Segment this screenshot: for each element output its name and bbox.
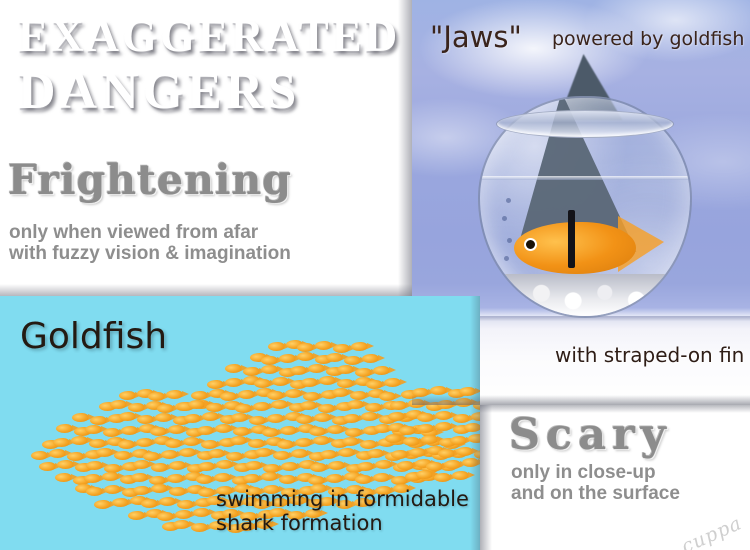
bubble-icon [506, 198, 511, 203]
goldfish-icon [72, 413, 89, 422]
goldfish-icon [279, 475, 296, 484]
label-scary: Scary [509, 410, 672, 460]
goldfish-icon [397, 461, 414, 470]
goldfish-icon [57, 460, 74, 469]
goldfish-icon [365, 403, 382, 412]
goldfish-icon [355, 368, 372, 377]
goldfish-icon [110, 400, 127, 409]
goldfish-icon [128, 403, 145, 412]
goldfish-icon [342, 437, 359, 446]
goldfish-icon [85, 425, 102, 434]
goldfish-icon [391, 450, 408, 459]
goldfish-icon [357, 462, 374, 471]
goldfish-icon [373, 366, 390, 375]
goldfish-icon [202, 412, 219, 421]
goldfish-icon [347, 400, 364, 409]
goldfish-icon [452, 471, 469, 480]
goldfish-icon [268, 342, 285, 351]
goldfish-icon [366, 380, 383, 389]
artist-signature: cuppa [679, 512, 746, 550]
goldfish-icon [197, 426, 214, 435]
goldfish-icon [417, 424, 434, 433]
caption-shark-formation-line-2: shark formation [216, 511, 469, 535]
goldfish-icon [96, 448, 113, 457]
goldfish-icon [225, 378, 242, 387]
goldfish-icon [355, 475, 372, 484]
goldfish-icon [169, 487, 186, 496]
goldfish-icon [157, 404, 174, 413]
goldfish-icon [343, 414, 360, 423]
goldfish-icon [168, 425, 185, 434]
goldfish-icon [148, 392, 165, 401]
fin-strap [568, 210, 575, 268]
goldfish-icon [231, 413, 248, 422]
goldfish-icon [468, 434, 480, 443]
goldfish-icon [243, 367, 260, 376]
page-title-line-2: DANGERS [18, 66, 300, 118]
goldfish-icon [233, 427, 250, 436]
goldfish-icon [167, 474, 184, 483]
goldfish-icon [220, 392, 237, 401]
goldfish-icon [254, 379, 271, 388]
goldfish-icon [435, 411, 452, 420]
goldfish-icon [235, 404, 252, 413]
goldfish-icon [155, 413, 172, 422]
goldfish-icon [215, 424, 232, 433]
goldfish-icon [151, 484, 168, 493]
goldfish-icon [319, 376, 336, 385]
goldfish-icon [119, 391, 136, 400]
goldfish-icon [350, 391, 367, 400]
caption-frightening-line-1: only when viewed from afar [9, 222, 291, 243]
goldfish-icon [261, 365, 278, 374]
goldfish-icon [281, 462, 298, 471]
goldfish-icon [128, 511, 145, 520]
goldfish-icon [285, 389, 302, 398]
goldfish-icon [308, 364, 325, 373]
goldfish-icon [271, 400, 288, 409]
goldfish-icon [136, 438, 153, 447]
goldfish-icon [102, 472, 119, 481]
goldfish-icon [196, 475, 213, 484]
goldfish-icon [345, 428, 362, 437]
goldfish-icon [416, 470, 433, 479]
goldfish-icon [89, 439, 106, 448]
caption-scary: only in close-up and on the surface [511, 462, 680, 504]
goldfish-icon [165, 439, 182, 448]
goldfish-icon [326, 353, 343, 362]
goldfish-icon [300, 401, 317, 410]
goldfish-icon [159, 497, 176, 506]
goldfish-icon [437, 400, 454, 409]
goldfish-icon [118, 440, 135, 449]
goldfish-icon [103, 428, 120, 437]
goldfish-icon [175, 510, 192, 519]
goldfish-icon [280, 426, 297, 435]
goldfish-icon [191, 523, 208, 532]
goldfish-icon [332, 388, 349, 397]
goldfish-icon [183, 437, 200, 446]
caption-straped-on-fin: with straped-on fin [555, 343, 744, 367]
goldfish-icon [261, 472, 278, 481]
goldfish-icon [315, 341, 332, 350]
goldfish-icon [459, 387, 476, 396]
goldfish-icon [337, 379, 354, 388]
goldfish-icon [309, 427, 326, 436]
caption-shark-formation-line-1: swimming in formidable [216, 487, 469, 511]
goldfish-icon [272, 377, 289, 386]
goldfish-icon [198, 462, 215, 471]
caption-scary-line-1: only in close-up [511, 462, 680, 483]
goldfish-icon [430, 386, 447, 395]
goldfish-icon [328, 461, 345, 470]
goldfish-icon [290, 366, 307, 375]
goldfish-icon [291, 449, 308, 458]
goldfish-icon [133, 486, 150, 495]
goldfish-icon [208, 449, 225, 458]
goldfish-icon [179, 448, 196, 457]
caption-scary-line-2: and on the surface [511, 483, 680, 504]
page-title-line-1: EXAGGERATED [18, 14, 400, 59]
goldfish-icon [455, 398, 472, 407]
goldfish-icon [243, 474, 260, 483]
goldfish-icon [453, 414, 470, 423]
label-jaws: "Jaws" [430, 20, 522, 54]
goldfish-icon [248, 439, 265, 448]
goldfish-icon [379, 392, 396, 401]
goldfish-icon [338, 448, 355, 457]
goldfish-icon [388, 412, 405, 421]
goldfish-icon [201, 440, 218, 449]
goldfish-icon [184, 414, 201, 423]
goldfish-icon [326, 474, 343, 483]
goldfish-icon [473, 401, 480, 410]
goldfish-icon [169, 461, 186, 470]
goldfish-icon [114, 451, 131, 460]
goldfish-icon [131, 473, 148, 482]
goldfish-icon [267, 391, 284, 400]
goldfish-icon [320, 450, 337, 459]
goldfish-icon [119, 412, 136, 421]
goldfish-icon [49, 449, 66, 458]
goldfish-icon [94, 500, 111, 509]
goldfish-icon [314, 413, 331, 422]
goldfish-icon [327, 425, 344, 434]
goldfish-icon [56, 424, 73, 433]
goldfish-icon [344, 356, 361, 365]
goldfish-icon [351, 342, 368, 351]
goldfish-icon [151, 463, 168, 472]
goldfish-icon [188, 400, 205, 409]
panel-exaggerated-dangers: EXAGGERATED DANGERS Frightening only whe… [0, 0, 412, 296]
goldfish-icon [273, 451, 290, 460]
goldfish-icon [177, 500, 194, 509]
goldfish-icon [362, 354, 379, 363]
goldfish-icon [216, 460, 233, 469]
goldfish-icon [225, 364, 242, 373]
label-powered-by-goldfish: powered by goldfish [552, 28, 744, 50]
goldfish-icon [399, 426, 416, 435]
goldfish-icon [86, 487, 103, 496]
goldfish-icon [313, 436, 330, 445]
goldfish-icon [464, 423, 480, 432]
goldfish-icon [133, 460, 150, 469]
bubble-icon [507, 238, 512, 243]
goldfish-icon [55, 473, 72, 482]
goldfish-icon [137, 415, 154, 424]
caption-frightening-line-2: with fuzzy vision & imagination [9, 243, 291, 264]
goldfish-icon [375, 460, 392, 469]
goldfish-icon [166, 390, 183, 399]
goldfish-icon [261, 356, 278, 365]
goldfish-icon [438, 449, 455, 458]
goldfish-icon [277, 440, 294, 449]
goldfish-icon [157, 512, 174, 521]
goldfish-icon [206, 403, 223, 412]
goldfish-icon [104, 485, 121, 494]
goldfish-eye [524, 238, 537, 251]
goldfish-icon [456, 447, 473, 456]
goldfish-icon [297, 343, 314, 352]
caption-shark-formation: swimming in formidable shark formation [216, 487, 469, 535]
goldfish-icon [412, 388, 429, 397]
goldfish-icon [141, 499, 158, 508]
goldfish-icon [421, 435, 438, 444]
label-frightening: Frightening [8, 160, 292, 201]
label-goldfish: Goldfish [20, 316, 167, 357]
goldfish-icon [267, 414, 284, 423]
goldfish-icon [112, 498, 129, 507]
goldfish-icon [214, 473, 231, 482]
goldfish-icon [191, 391, 208, 400]
goldfish-icon [310, 463, 327, 472]
goldfish-icon [301, 378, 318, 387]
goldfish-icon [390, 401, 407, 410]
goldfish-icon [434, 473, 451, 482]
goldfish-icon [279, 354, 296, 363]
goldfish-icon [173, 520, 190, 529]
goldfish-icon [318, 404, 335, 413]
goldfish-icon [337, 365, 354, 374]
bubble-icon [502, 216, 507, 221]
goldfish-icon [444, 460, 461, 469]
goldfish-icon [297, 352, 314, 361]
goldfish-icon [303, 392, 320, 401]
goldfish-icon [385, 434, 402, 443]
fishbowl-photo [476, 54, 691, 322]
goldfish-icon [253, 402, 270, 411]
goldfish-icon [360, 440, 377, 449]
goldfish-icon [86, 461, 103, 470]
goldfish-icon [255, 448, 272, 457]
goldfish-icon [150, 427, 167, 436]
goldfish-icon [408, 399, 425, 408]
goldfish-icon [417, 413, 434, 422]
goldfish-icon [207, 380, 224, 389]
goldfish-icon [193, 508, 210, 517]
panel-left-shadow [480, 405, 492, 550]
bubble-icon [504, 256, 509, 261]
caption-frightening: only when viewed from afar with fuzzy vi… [9, 222, 291, 264]
goldfish-icon [53, 438, 70, 447]
goldfish-icon [84, 474, 101, 483]
goldfish-icon [295, 438, 312, 447]
goldfish-icon [262, 428, 279, 437]
goldfish-icon [296, 415, 313, 424]
goldfish-icon [238, 390, 255, 399]
goldfish-icon [71, 436, 88, 445]
water-line [480, 176, 690, 180]
goldfish-icon [367, 449, 384, 458]
goldfish-icon [462, 458, 479, 467]
goldfish-icon [450, 436, 467, 445]
fishbowl-rim [496, 110, 674, 138]
goldfish-icon [373, 473, 390, 482]
goldfish-icon [39, 462, 56, 471]
goldfish-icon [333, 344, 350, 353]
goldfish-icon [121, 426, 138, 435]
goldfish-icon [409, 448, 426, 457]
gravel-bed [486, 274, 684, 316]
goldfish-icon [403, 437, 420, 446]
poster-canvas: EXAGGERATED DANGERS Frightening only whe… [0, 0, 750, 550]
goldfish-icon [230, 436, 247, 445]
goldfish-icon [90, 416, 107, 425]
goldfish-icon [249, 416, 266, 425]
goldfish-icon [361, 412, 378, 421]
goldfish-icon [245, 461, 262, 470]
goldfish-icon [435, 422, 452, 431]
goldfish-icon [161, 450, 178, 459]
goldfish-icon [31, 451, 48, 460]
goldfish-icon [384, 378, 401, 387]
